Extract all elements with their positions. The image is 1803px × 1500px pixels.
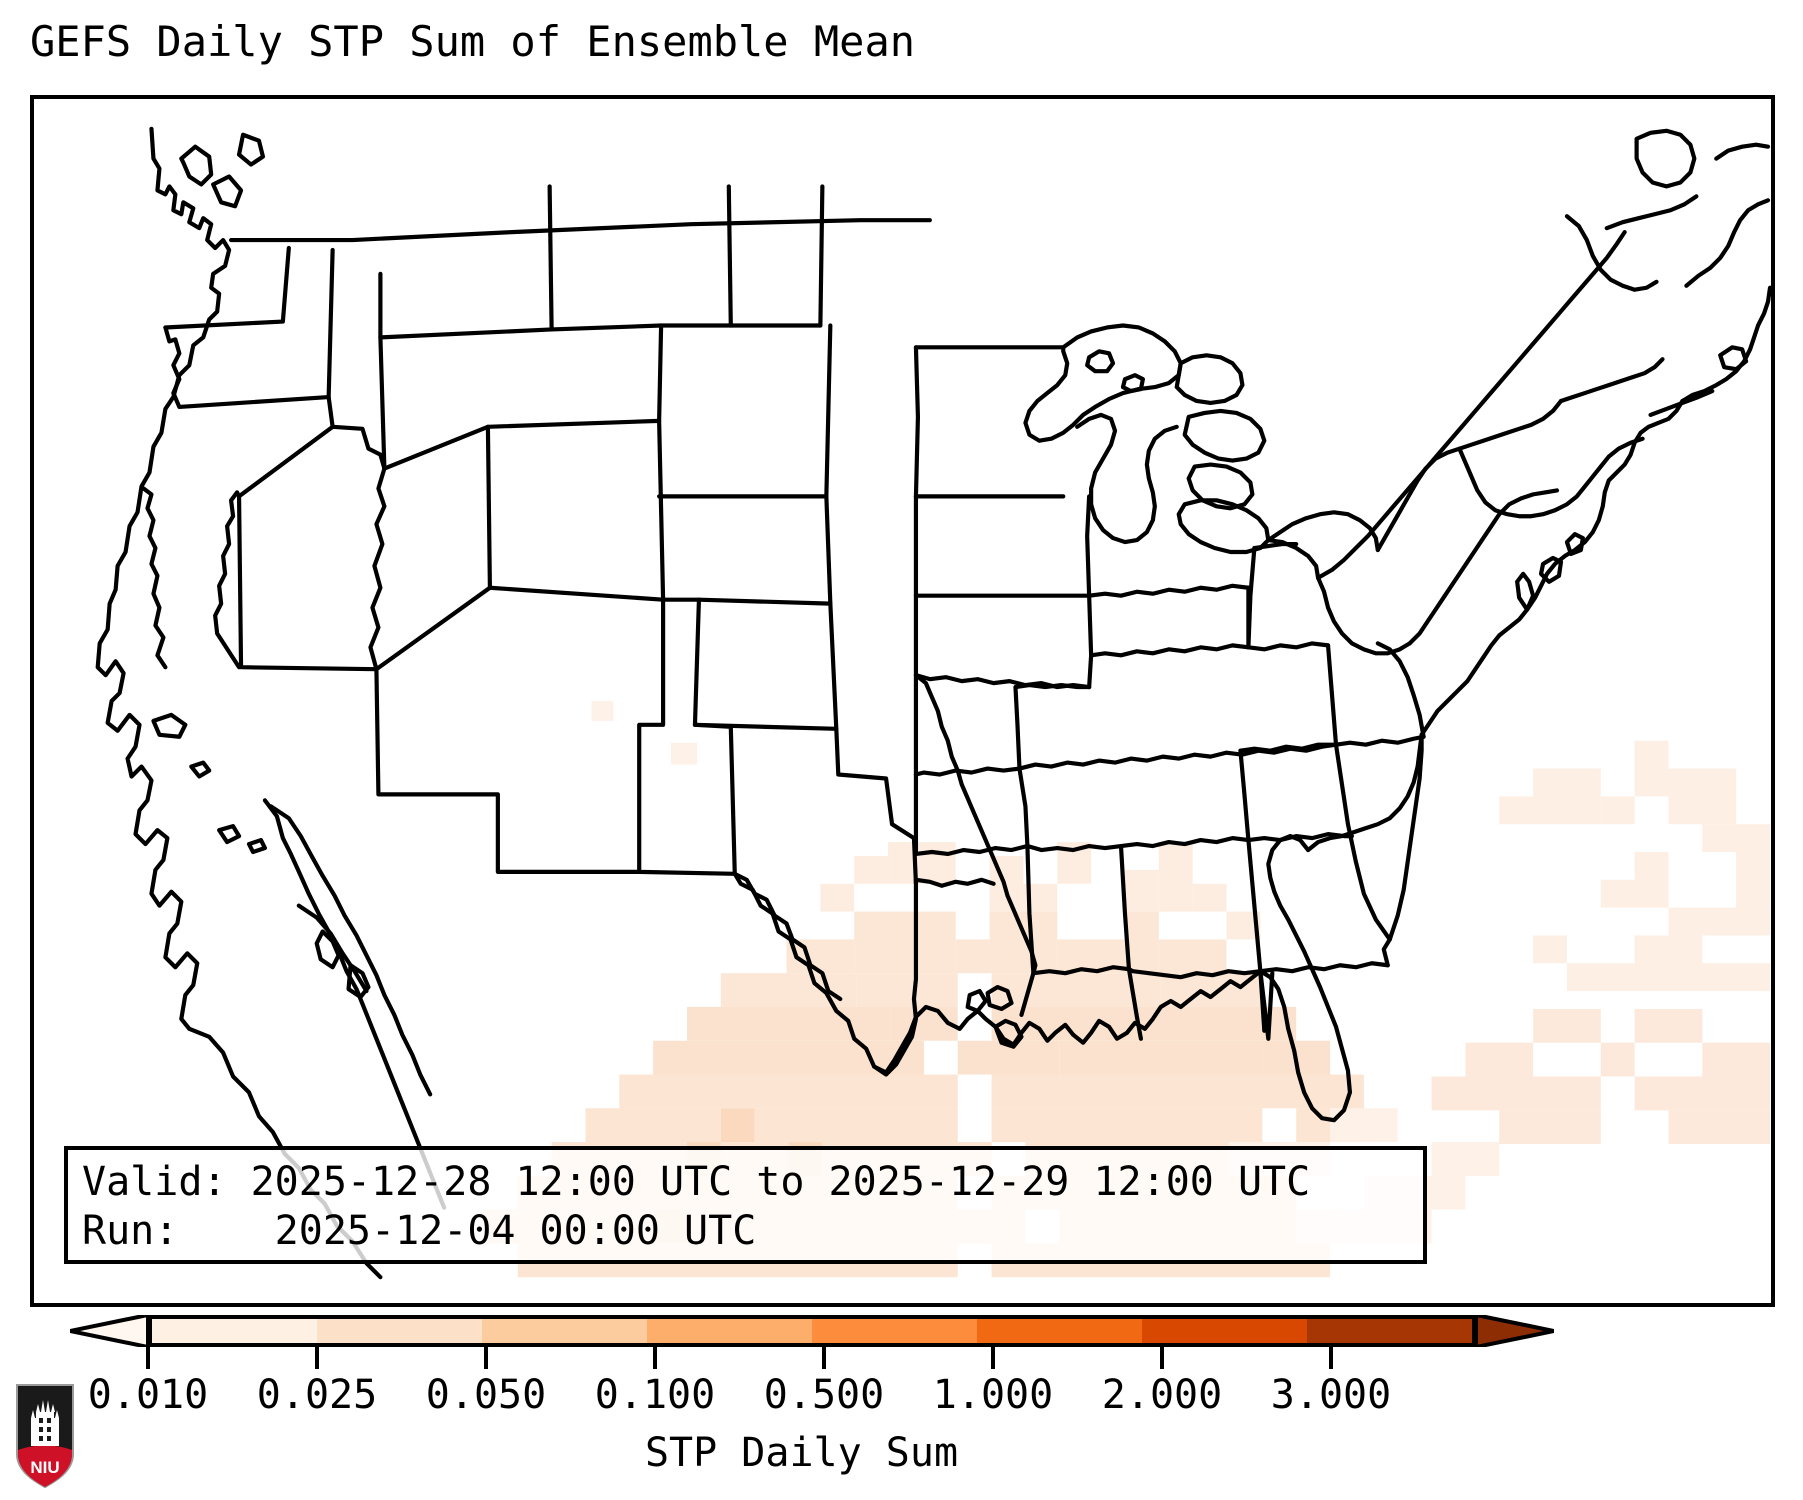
colorbar-extend-right-arrow	[1476, 1315, 1554, 1347]
colorbar-gradient	[148, 1315, 1476, 1347]
colorbar-tick-label-5: 1.000	[933, 1372, 1053, 1418]
colorbar-tick-label-6: 2.000	[1102, 1372, 1222, 1418]
colorbar-tick-2	[484, 1347, 488, 1369]
valid-time-line: Valid: 2025-12-28 12:00 UTC to 2025-12-2…	[82, 1158, 1409, 1207]
colorbar-segment-6	[1142, 1319, 1307, 1343]
colorbar-segment-0	[152, 1319, 317, 1343]
colorbar-tick-label-4: 0.500	[764, 1372, 884, 1418]
colorbar-tick-3	[653, 1347, 657, 1369]
colorbar-segment-3	[647, 1319, 812, 1343]
colorbar: 0.0100.0250.0500.1000.5001.0002.0003.000…	[0, 1300, 1803, 1500]
colorbar-label: STP Daily Sum	[0, 1430, 1803, 1476]
colorbar-tick-7	[1329, 1347, 1333, 1369]
page-title: GEFS Daily STP Sum of Ensemble Mean	[30, 17, 915, 66]
colorbar-segment-7	[1307, 1319, 1472, 1343]
colorbar-tick-label-0: 0.010	[88, 1372, 208, 1418]
colorbar-tick-label-2: 0.050	[426, 1372, 546, 1418]
niu-logo-text: NIU	[30, 1458, 59, 1477]
map-frame	[30, 95, 1775, 1307]
colorbar-tick-label-1: 0.025	[257, 1372, 377, 1418]
colorbar-tick-0	[146, 1347, 150, 1369]
run-time-line: Run: 2025-12-04 00:00 UTC	[82, 1207, 1409, 1256]
colorbar-tick-6	[1160, 1347, 1164, 1369]
colorbar-segment-2	[482, 1319, 647, 1343]
colorbar-tick-label-3: 0.100	[595, 1372, 715, 1418]
colorbar-tick-1	[315, 1347, 319, 1369]
colorbar-segment-4	[812, 1319, 977, 1343]
conus-map	[34, 99, 1771, 1303]
forecast-info-box: Valid: 2025-12-28 12:00 UTC to 2025-12-2…	[64, 1146, 1427, 1264]
colorbar-segment-1	[317, 1319, 482, 1343]
colorbar-segment-5	[977, 1319, 1142, 1343]
colorbar-tick-label-7: 3.000	[1271, 1372, 1391, 1418]
colorbar-extend-left-arrow	[70, 1315, 148, 1347]
colorbar-label-text: STP Daily Sum	[645, 1430, 958, 1476]
niu-logo: NIU	[14, 1382, 76, 1490]
colorbar-tick-5	[991, 1347, 995, 1369]
colorbar-tick-4	[822, 1347, 826, 1369]
